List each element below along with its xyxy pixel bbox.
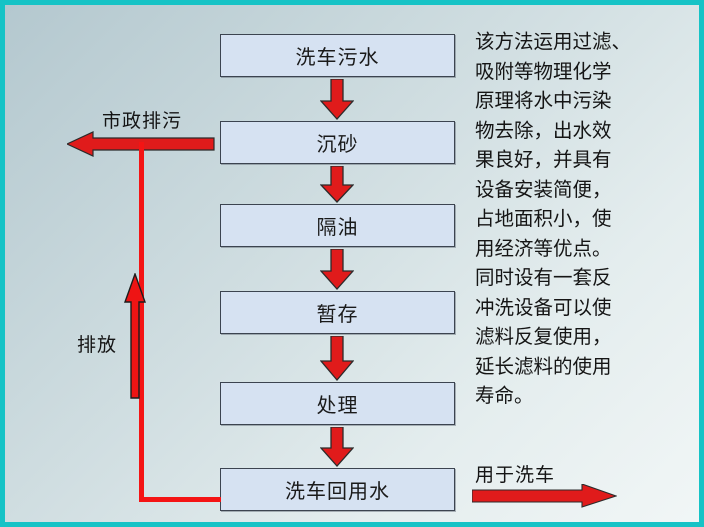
description-line: 延长滤料的使用	[475, 352, 655, 382]
flow-box-label: 处理	[317, 389, 359, 418]
description-line: 物去除，出水效	[475, 116, 655, 146]
flow-box-step-5[interactable]: 处理	[220, 382, 455, 425]
flow-box-step-4[interactable]: 暂存	[220, 291, 455, 334]
down-arrow-icon-5-6	[320, 427, 354, 467]
flow-box-label: 沉砂	[317, 128, 359, 157]
flow-box-step-6[interactable]: 洗车回用水	[220, 468, 455, 511]
diagram-canvas: 洗车污水 沉砂 隔油 暂存 处理 洗车回用水	[0, 0, 704, 527]
down-arrow-icon-2-3	[320, 166, 354, 203]
flow-box-step-3[interactable]: 隔油	[220, 204, 455, 247]
description-line: 冲洗设备可以使	[475, 293, 655, 323]
return-line-vertical	[139, 142, 144, 502]
description-line: 寿命。	[475, 381, 655, 411]
right-arrow-icon-reuse-for-washing	[472, 484, 617, 508]
flow-box-label: 隔油	[317, 211, 359, 240]
description-line: 占地面积小，使	[475, 204, 655, 234]
flow-box-label: 暂存	[317, 298, 359, 327]
down-arrow-icon-3-4	[320, 249, 354, 290]
flow-box-label: 洗车污水	[296, 41, 380, 70]
down-arrow-icon-4-5	[320, 336, 354, 381]
flow-box-step-1[interactable]: 洗车污水	[220, 34, 455, 77]
down-arrow-icon-1-2	[320, 79, 354, 120]
branch-label-reuse-for-washing: 用于洗车	[475, 460, 555, 487]
branch-label-discharge: 排放	[77, 330, 117, 357]
flow-box-step-2[interactable]: 沉砂	[220, 121, 455, 164]
description-line: 用经济等优点。	[475, 234, 655, 264]
description-paragraph: 该方法运用过滤、吸附等物理化学原理将水中污染物去除，出水效果良好，并具有设备安装…	[475, 27, 655, 411]
flow-box-label: 洗车回用水	[285, 475, 390, 504]
description-line: 设备安装简便，	[475, 175, 655, 205]
description-line: 吸附等物理化学	[475, 57, 655, 87]
description-line: 同时设有一套反	[475, 263, 655, 293]
description-line: 滤料反复使用，	[475, 322, 655, 352]
description-line: 原理将水中污染	[475, 86, 655, 116]
description-line: 果良好，并具有	[475, 145, 655, 175]
description-line: 该方法运用过滤、	[475, 27, 655, 57]
return-line-horizontal	[139, 497, 221, 502]
branch-label-municipal-discharge: 市政排污	[102, 106, 182, 133]
